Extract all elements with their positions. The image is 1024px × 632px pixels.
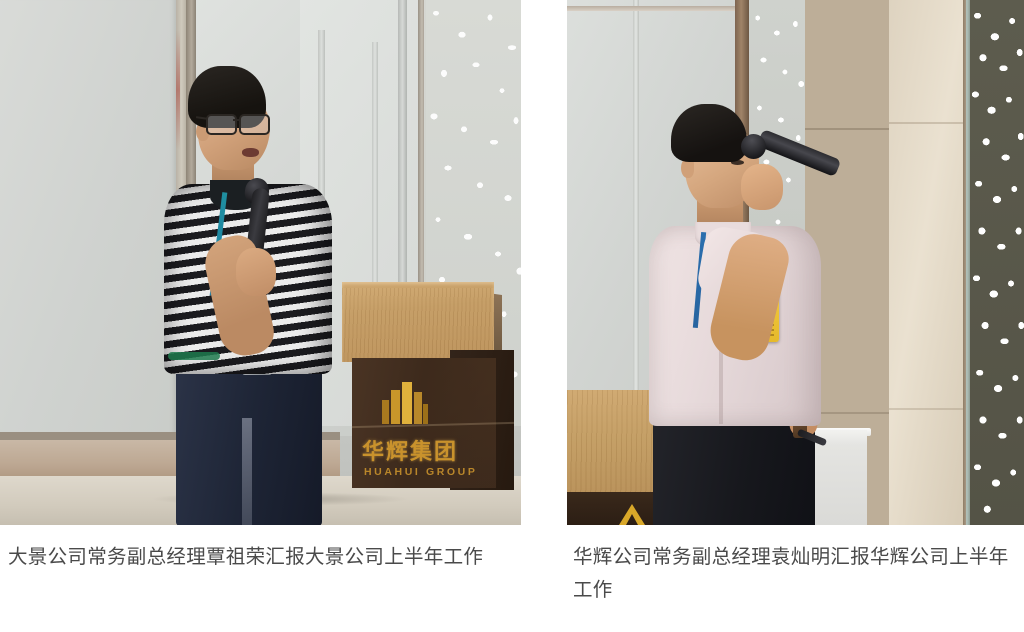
speaker-right: H	[645, 104, 875, 525]
photo-report-page: 华辉集团 HUAHUI GROUP	[0, 0, 1024, 632]
perforated-screen-right	[970, 0, 1024, 525]
photo-left: 华辉集团 HUAHUI GROUP	[0, 0, 521, 525]
glass-wall-frame	[633, 0, 639, 430]
podium-logo-chinese: 华辉集团	[362, 440, 482, 464]
window-frame-bar-2	[372, 42, 378, 302]
speaker-left	[150, 66, 350, 525]
speaker-left-leg-gap	[242, 418, 252, 525]
marble-column-b	[889, 0, 967, 525]
photo-right: H	[567, 0, 1024, 525]
marble-column-b-seam	[889, 408, 967, 410]
podium-emblem-icon	[619, 504, 645, 525]
huahui-building-logo-icon	[378, 378, 430, 424]
speaker-right-hand	[741, 164, 783, 210]
glass-wall-header	[567, 6, 743, 11]
glasses-lens-left	[206, 114, 237, 135]
caption-right: 华辉公司常务副总经理袁灿明汇报华辉公司上半年工作	[567, 525, 1013, 607]
podium-logo-english: HUAHUI GROUP	[364, 466, 494, 478]
speaker-right-hair	[671, 104, 747, 162]
glasses-lens-right	[239, 114, 270, 135]
speaker-left-mouth	[242, 148, 259, 157]
speaker-left-hand	[236, 248, 276, 296]
glasses-bridge	[233, 119, 241, 121]
photo-column-right: H	[567, 0, 1024, 607]
photo-column-left: 华辉集团 HUAHUI GROUP	[0, 0, 521, 574]
glasses-icon	[206, 114, 272, 131]
caption-left: 大景公司常务副总经理覃祖荣汇报大景公司上半年工作	[0, 525, 513, 574]
speaker-left-sleeve-trim	[168, 352, 220, 360]
marble-column-b-seam	[889, 122, 967, 124]
